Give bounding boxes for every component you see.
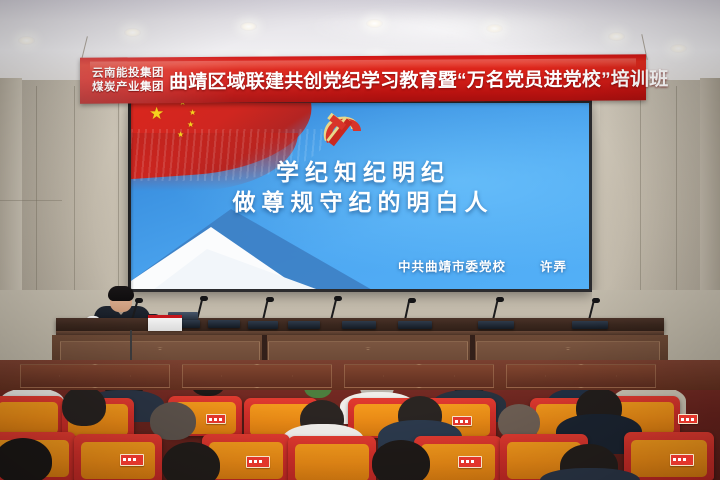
laptop-device: [398, 321, 432, 329]
slide-institution: 中共曲靖市委党校: [398, 256, 506, 275]
slide-credit: 中共曲靖市委党校 许弄: [131, 256, 589, 275]
wainscot-panel: [182, 364, 332, 388]
microphone-head-icon: [334, 296, 342, 301]
seat-name-tag: [678, 414, 698, 424]
downlight-icon: [670, 44, 687, 53]
seat-name-tag: [452, 416, 472, 426]
seat-name-tag: [670, 454, 694, 466]
slide-title-line2: 做尊规守纪的明白人: [131, 183, 589, 217]
wainscot-diamond: [545, 364, 617, 388]
presentation-slide: ★ ★ ★ ★ ★ 学纪知纪明纪 做尊规守纪的明白人: [131, 103, 589, 289]
auditorium-seat[interactable]: [624, 432, 714, 480]
audience-head: [0, 438, 52, 480]
flag-star-icon: ★: [177, 131, 184, 139]
downlight-icon: [608, 32, 625, 41]
microphone-head-icon: [592, 298, 600, 303]
microphone-head-icon: [496, 297, 504, 302]
auditorium-seat[interactable]: [288, 436, 376, 480]
downlight-icon: [18, 36, 35, 45]
wainscot-panel: [506, 364, 656, 388]
stage-wainscot: [0, 360, 720, 390]
banner-org-line2: 煤炭产业集团: [92, 81, 164, 94]
laptop-device: [248, 321, 278, 329]
audience-head: [372, 440, 430, 480]
audience-head: [62, 386, 106, 426]
laptop-device: [478, 321, 514, 329]
lecture-hall-photo: ★ ★ ★ ★ ★ 学纪知纪明纪 做尊规守纪的明白人: [0, 0, 720, 480]
banner-content: 云南能投集团 煤炭产业集团 曲靖区域联建共创党纪学习教育暨“万名党员进党校”培训…: [80, 54, 646, 103]
downlight-icon: [124, 28, 141, 37]
banner-org-line1: 云南能投集团: [92, 67, 164, 80]
cpc-hammer-sickle-emblem-icon: [313, 109, 367, 153]
slide-presenter: 许弄: [540, 256, 567, 275]
flag-star-icon: ★: [189, 109, 196, 117]
auditorium-seat[interactable]: [74, 434, 162, 480]
microphone-head-icon: [135, 298, 143, 303]
speaker-hair: [108, 286, 134, 301]
wainscot-diamond: [59, 364, 131, 388]
banner-org-block: 云南能投集团 煤炭产业集团: [92, 67, 164, 93]
banner-main-text: 曲靖区域联建共创党纪学习教育暨“万名党员进党校”培训班: [169, 64, 668, 94]
seat-name-tag: [206, 414, 226, 424]
wainscot-diamond: [221, 364, 293, 388]
flag-star-icon: ★: [149, 105, 164, 122]
wainscot-panel: [344, 364, 494, 388]
flag-star-icon: ★: [179, 103, 186, 107]
downlight-icon: [486, 24, 503, 33]
downlight-icon: [240, 22, 257, 31]
wall-seam: [0, 200, 62, 201]
downlight-icon: [366, 19, 383, 28]
wainscot-diamond: [383, 364, 455, 388]
laptop-device: [208, 320, 240, 328]
seat-name-tag: [246, 456, 270, 468]
microphone-head-icon: [266, 297, 274, 302]
laptop-device: [342, 321, 376, 329]
ceiling-glow: [300, 6, 600, 48]
audience-head: [162, 442, 220, 480]
microphone-head-icon: [200, 296, 208, 301]
screen-edge-shadow: [128, 100, 134, 292]
wainscot-panel: [20, 364, 170, 388]
event-banner: 云南能投集团 煤炭产业集团 曲靖区域联建共创党纪学习教育暨“万名党员进党校”培训…: [80, 54, 646, 103]
speaker-nameplate: [148, 315, 182, 331]
projection-screen: ★ ★ ★ ★ ★ 学纪知纪明纪 做尊规守纪的明白人: [128, 100, 592, 292]
seat-name-tag: [120, 454, 144, 466]
laptop-device: [572, 321, 608, 329]
microphone-head-icon: [408, 298, 416, 303]
auditorium-seat[interactable]: [0, 396, 64, 436]
slide-title-line1: 学纪知纪明纪: [131, 153, 589, 187]
flag-star-icon: ★: [187, 121, 194, 129]
seat-name-tag: [458, 456, 482, 468]
laptop-device: [288, 321, 320, 329]
